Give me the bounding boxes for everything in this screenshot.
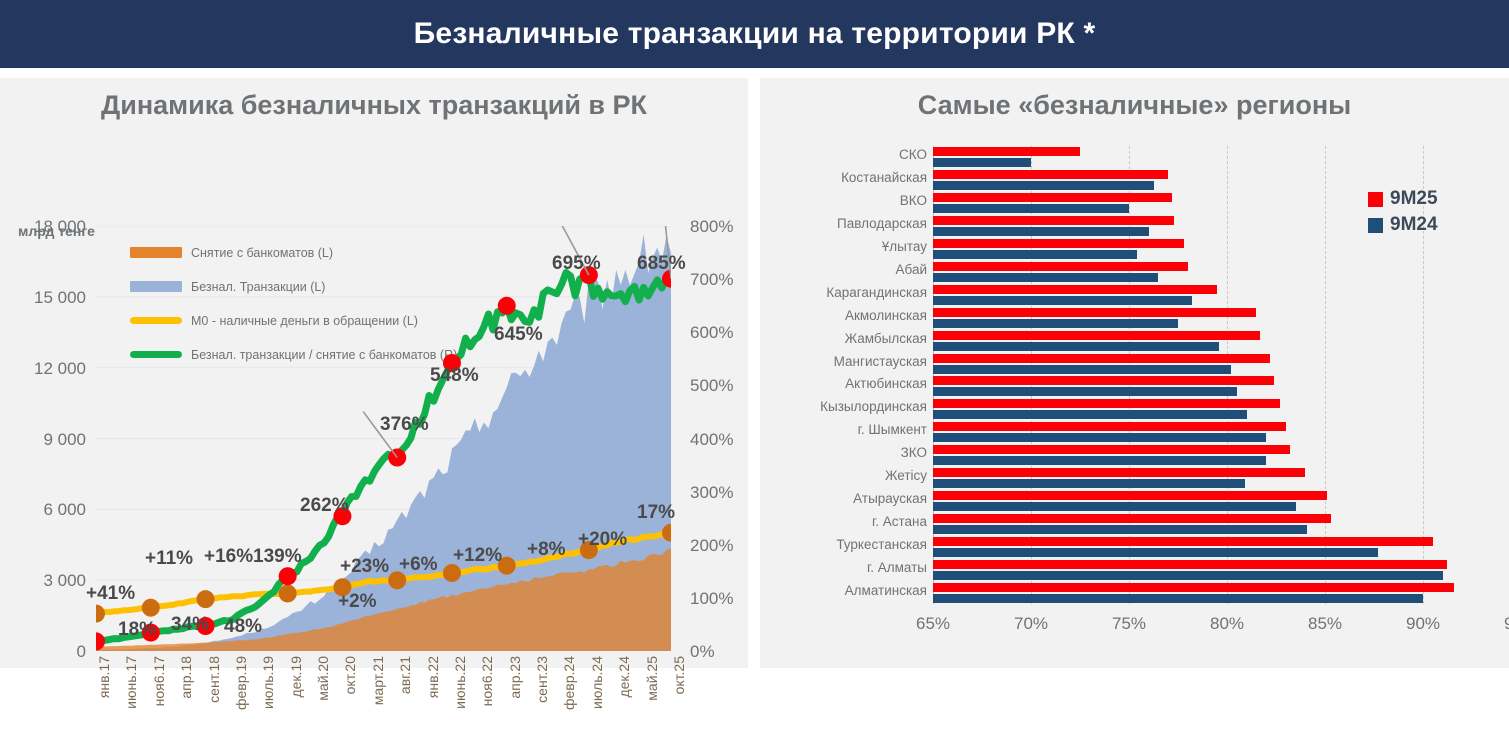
right-chart-category-labels: СКОКостанайскаяВКОПавлодарскаяҰлытауАбай… bbox=[765, 146, 927, 604]
marker-m0 bbox=[96, 605, 105, 623]
bar-9m25 bbox=[933, 147, 1080, 156]
bar-9m24 bbox=[933, 342, 1219, 351]
legend-label: 9M25 bbox=[1390, 188, 1438, 210]
bar-9m25 bbox=[933, 239, 1184, 248]
category-label: ВКО bbox=[767, 193, 927, 208]
gridline bbox=[1227, 146, 1228, 604]
x-axis-tick: окт.25 bbox=[671, 656, 687, 694]
y-axis-tick: 0 bbox=[0, 642, 86, 662]
category-label: Жамбылская bbox=[767, 331, 927, 346]
y-axis-tick: 15 000 bbox=[0, 288, 86, 308]
legend-swatch-icon bbox=[1368, 192, 1383, 207]
bar-9m24 bbox=[933, 296, 1192, 305]
data-label: +8% bbox=[527, 539, 566, 561]
x-axis-tick: янв.17 bbox=[96, 656, 112, 698]
bar-9m24 bbox=[933, 456, 1266, 465]
y2-axis-tick: 700% bbox=[690, 270, 750, 290]
bar-9m25 bbox=[933, 376, 1274, 385]
bar-9m25 bbox=[933, 262, 1188, 271]
bar-9m25 bbox=[933, 514, 1331, 523]
x-axis-tick: авг.21 bbox=[397, 656, 413, 694]
y-axis-tick: 6 000 bbox=[0, 500, 86, 520]
y-axis-tick: 9 000 bbox=[0, 430, 86, 450]
bar-9m24 bbox=[933, 571, 1443, 580]
data-label: 34% bbox=[171, 614, 209, 636]
category-label: Актюбинская bbox=[767, 376, 927, 391]
data-label: 262% bbox=[300, 495, 349, 517]
bar-9m25 bbox=[933, 468, 1305, 477]
category-label: Абай bbox=[767, 262, 927, 277]
y2-axis-tick: 200% bbox=[690, 536, 750, 556]
y-axis-tick: 3 000 bbox=[0, 571, 86, 591]
data-label: 376% bbox=[380, 414, 429, 436]
x-axis-tick: дек.24 bbox=[616, 656, 632, 698]
category-label: Мангистауская bbox=[767, 354, 927, 369]
x-axis-tick: февр.24 bbox=[561, 656, 577, 710]
data-label: +6% bbox=[399, 554, 438, 576]
y2-axis-tick: 0% bbox=[690, 642, 750, 662]
category-label: СКО bbox=[767, 147, 927, 162]
data-label: +2% bbox=[338, 591, 377, 613]
category-label: Туркестанская bbox=[767, 537, 927, 552]
y2-axis-tick: 400% bbox=[690, 430, 750, 450]
bar-9m25 bbox=[933, 560, 1447, 569]
x-axis-tick: июль.19 bbox=[260, 656, 276, 709]
x-axis-tick: 80% bbox=[1210, 614, 1244, 634]
left-chart-panel: Динамика безналичных транзакций в РК млр… bbox=[0, 78, 748, 668]
marker-m0 bbox=[142, 599, 160, 617]
bar-9m25 bbox=[933, 170, 1168, 179]
x-axis-tick: 70% bbox=[1014, 614, 1048, 634]
bar-9m25 bbox=[933, 193, 1172, 202]
bar-9m24 bbox=[933, 158, 1031, 167]
bar-9m25 bbox=[933, 354, 1270, 363]
legend-item-9m24: 9M24 bbox=[1368, 212, 1438, 238]
x-axis-tick: ноя6.17 bbox=[151, 656, 167, 706]
x-axis-tick: дек.19 bbox=[288, 656, 304, 698]
bar-9m25 bbox=[933, 285, 1217, 294]
bar-9m24 bbox=[933, 227, 1149, 236]
marker-ratio bbox=[498, 297, 516, 315]
data-label: +41% bbox=[86, 583, 135, 605]
x-axis-tick: 95% bbox=[1504, 614, 1509, 634]
data-label: 548% bbox=[430, 365, 479, 387]
x-axis-tick: ноя6.22 bbox=[479, 656, 495, 706]
right-chart-title: Самые «безналичные» регионы bbox=[760, 90, 1509, 121]
bar-9m25 bbox=[933, 216, 1174, 225]
bar-9m24 bbox=[933, 319, 1178, 328]
category-label: Акмолинская bbox=[767, 308, 927, 323]
bar-9m24 bbox=[933, 433, 1266, 442]
gridline bbox=[933, 146, 934, 604]
data-label: +16% bbox=[204, 546, 253, 568]
y-axis-tick: 12 000 bbox=[0, 359, 86, 379]
x-axis-tick: май.20 bbox=[315, 656, 331, 701]
bar-9m25 bbox=[933, 308, 1256, 317]
marker-m0 bbox=[279, 584, 297, 602]
x-axis-tick: окт.20 bbox=[342, 656, 358, 694]
bar-9m24 bbox=[933, 387, 1237, 396]
x-axis-tick: апр.23 bbox=[507, 656, 523, 699]
marker-ratio bbox=[279, 567, 297, 585]
left-chart-plot-area bbox=[96, 226, 671, 651]
category-label: Костанайская bbox=[767, 170, 927, 185]
data-label: 685% bbox=[637, 253, 686, 275]
right-chart-legend: 9M259M24 bbox=[1368, 186, 1438, 238]
x-axis-tick: сент.23 bbox=[534, 656, 550, 703]
bar-9m25 bbox=[933, 331, 1260, 340]
data-label: 18% bbox=[118, 619, 156, 641]
bar-9m24 bbox=[933, 365, 1231, 374]
right-chart-plot-area bbox=[933, 146, 1403, 604]
data-label: +12% bbox=[453, 545, 502, 567]
x-axis-tick: июль.24 bbox=[589, 656, 605, 709]
data-label: 17% bbox=[637, 502, 675, 524]
bar-9m25 bbox=[933, 445, 1290, 454]
category-label: Атырауская bbox=[767, 491, 927, 506]
category-label: г. Алматы bbox=[767, 560, 927, 575]
category-label: Павлодарская bbox=[767, 216, 927, 231]
bar-9m24 bbox=[933, 525, 1307, 534]
y2-axis-tick: 500% bbox=[690, 376, 750, 396]
y-axis-tick: 18 000 bbox=[0, 217, 86, 237]
x-axis-tick: июнь.17 bbox=[123, 656, 139, 709]
category-label: г. Астана bbox=[767, 514, 927, 529]
x-axis-tick: март.21 bbox=[370, 656, 386, 705]
x-axis-tick: янв.22 bbox=[425, 656, 441, 698]
legend-label: 9M24 bbox=[1390, 214, 1438, 236]
bar-9m24 bbox=[933, 273, 1158, 282]
x-axis-tick: 75% bbox=[1112, 614, 1146, 634]
y2-axis-tick: 600% bbox=[690, 323, 750, 343]
y2-axis-tick: 100% bbox=[690, 589, 750, 609]
data-label: 695% bbox=[552, 253, 601, 275]
bar-9m24 bbox=[933, 204, 1129, 213]
x-axis-tick: февр.19 bbox=[233, 656, 249, 710]
x-axis-tick: 85% bbox=[1308, 614, 1342, 634]
bar-9m25 bbox=[933, 583, 1454, 592]
page-title: Безналичные транзакции на территории РК … bbox=[414, 17, 1096, 51]
y2-axis-tick: 300% bbox=[690, 483, 750, 503]
data-label: +23% bbox=[340, 556, 389, 578]
gridline bbox=[1129, 146, 1130, 604]
data-label: 645% bbox=[494, 324, 543, 346]
x-axis-tick: апр.18 bbox=[178, 656, 194, 699]
category-label: Кызылординская bbox=[767, 399, 927, 414]
marker-m0 bbox=[197, 590, 215, 608]
bar-9m24 bbox=[933, 479, 1245, 488]
category-label: Ұлытау bbox=[767, 239, 927, 254]
category-label: ЗКО bbox=[767, 445, 927, 460]
category-label: Жетісу bbox=[767, 468, 927, 483]
page-header: Безналичные транзакции на территории РК … bbox=[0, 0, 1509, 68]
data-label: +11% bbox=[145, 548, 193, 570]
category-label: г. Шымкент bbox=[767, 422, 927, 437]
bar-9m24 bbox=[933, 181, 1154, 190]
x-axis-tick: июнь.22 bbox=[452, 656, 468, 709]
x-axis-tick: май.25 bbox=[644, 656, 660, 701]
left-chart-svg bbox=[96, 226, 671, 651]
data-label: 48% bbox=[224, 616, 262, 638]
bar-9m24 bbox=[933, 594, 1423, 603]
bar-9m24 bbox=[933, 502, 1296, 511]
legend-swatch-icon bbox=[1368, 218, 1383, 233]
bar-9m25 bbox=[933, 537, 1433, 546]
category-label: Алматинская bbox=[767, 583, 927, 598]
x-axis-tick: сент.18 bbox=[206, 656, 222, 703]
left-x-axis-ticks: янв.17июнь.17ноя6.17апр.18сент.18февр.19… bbox=[96, 656, 671, 744]
left-chart-title: Динамика безналичных транзакций в РК bbox=[0, 90, 748, 121]
gridline bbox=[1031, 146, 1032, 604]
bar-9m24 bbox=[933, 250, 1137, 259]
bar-9m25 bbox=[933, 399, 1280, 408]
bar-9m24 bbox=[933, 548, 1378, 557]
legend-item-9m25: 9M25 bbox=[1368, 186, 1438, 212]
bar-9m25 bbox=[933, 491, 1327, 500]
bar-9m24 bbox=[933, 410, 1247, 419]
x-axis-tick: 90% bbox=[1406, 614, 1440, 634]
data-label: +20% bbox=[578, 529, 627, 551]
data-label: 139% bbox=[253, 546, 302, 568]
gridline bbox=[1325, 146, 1326, 604]
x-axis-tick: 65% bbox=[916, 614, 950, 634]
bar-9m25 bbox=[933, 422, 1286, 431]
category-label: Карагандинская bbox=[767, 285, 927, 300]
y2-axis-tick: 800% bbox=[690, 217, 750, 237]
